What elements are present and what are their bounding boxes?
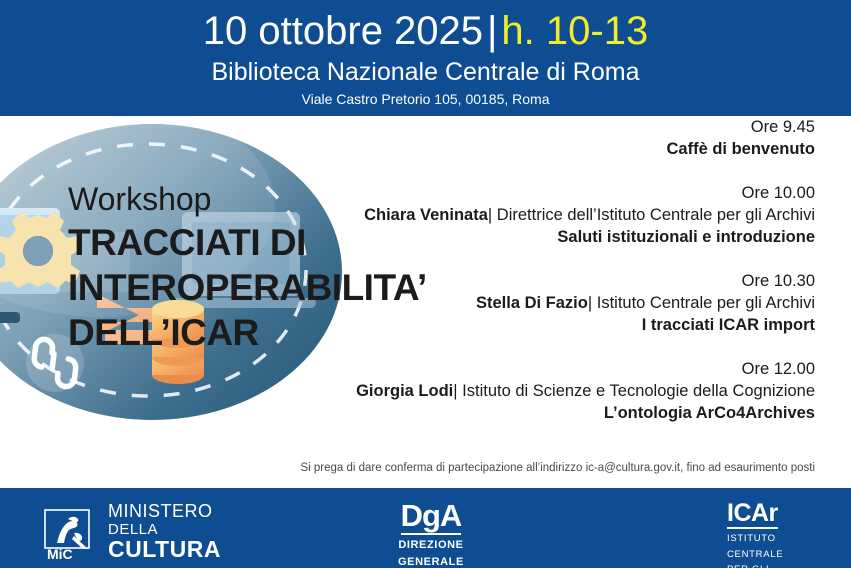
program-speaker-line: Giorgia Lodi| Istituto di Scienze e Tecn…	[355, 380, 815, 402]
mic-line-2: DELLA	[108, 522, 221, 537]
program-item: Ore 9.45 Caffè di benvenuto	[355, 116, 815, 160]
program-topic: I tracciati ICAR import	[355, 314, 815, 336]
logo-icar: ICAr ISTITUTO CENTRALE PER GLI ARCHIVI	[727, 500, 783, 568]
program-time: Ore 12.00	[355, 358, 815, 380]
program-item: Ore 10.30 Stella Di Fazio| Istituto Cent…	[355, 270, 815, 336]
mic-emblem-icon: MiC	[44, 509, 100, 561]
header-separator: |	[483, 9, 501, 53]
header-date-hours: 10 ottobre 2025|h. 10-13	[0, 6, 851, 56]
header-address: Viale Castro Pretorio 105, 00185, Roma	[0, 90, 851, 108]
program-speaker: Chiara Veninata	[364, 206, 488, 224]
rsvp-note: Si prega di dare conferma di partecipazi…	[175, 460, 815, 476]
icar-mark: ICAr	[727, 500, 778, 529]
program-item: Ore 12.00 Giorgia Lodi| Istituto di Scie…	[355, 358, 815, 424]
program-speaker-line: Stella Di Fazio| Istituto Centrale per g…	[355, 292, 815, 314]
icar-line-2: CENTRALE	[727, 549, 783, 561]
poster-root: 10 ottobre 2025|h. 10-13 Biblioteca Nazi…	[0, 0, 851, 568]
mic-wordmark: MINISTERO DELLA CULTURA	[108, 502, 221, 561]
program-affiliation: Direttrice dell’Istituto Centrale per gl…	[497, 206, 815, 224]
program-topic: L’ontologia ArCo4Archives	[355, 402, 815, 424]
main-content: Workshop TRACCIATI DI INTEROPERABILITA’ …	[0, 116, 851, 488]
program-item: Ore 10.00 Chiara Veninata| Direttrice de…	[355, 182, 815, 248]
header-venue: Biblioteca Nazionale Centrale di Roma	[0, 57, 851, 87]
icar-line-3: PER GLI	[727, 564, 783, 568]
mic-line-3: CULTURA	[108, 538, 221, 561]
program-speaker-line: Chiara Veninata| Direttrice dell’Istitut…	[355, 204, 815, 226]
program-time: Ore 10.30	[355, 270, 815, 292]
program-affiliation: Istituto Centrale per gli Archivi	[597, 294, 815, 312]
header-banner: 10 ottobre 2025|h. 10-13 Biblioteca Nazi…	[0, 0, 851, 116]
program-pipe: |	[488, 206, 492, 224]
program-list: Ore 9.45 Caffè di benvenuto Ore 10.00 Ch…	[355, 116, 815, 446]
icar-line-1: ISTITUTO	[727, 533, 783, 545]
program-time: Ore 9.45	[355, 116, 815, 138]
program-pipe: |	[588, 294, 592, 312]
dga-line-2: GENERALE	[398, 556, 464, 568]
logo-direzione-generale-archivi: DgA DIREZIONE GENERALE ARCHIVI	[398, 500, 464, 568]
program-affiliation: Istituto di Scienze e Tecnologie della C…	[462, 382, 815, 400]
program-speaker: Giorgia Lodi	[356, 382, 453, 400]
program-topic: Caffè di benvenuto	[355, 138, 815, 160]
dga-line-1: DIREZIONE	[398, 539, 464, 552]
program-speaker: Stella Di Fazio	[476, 294, 588, 312]
program-topic: Saluti istituzionali e introduzione	[355, 226, 815, 248]
mic-line-1: MINISTERO	[108, 502, 221, 520]
program-time: Ore 10.00	[355, 182, 815, 204]
dga-mark: DgA	[401, 500, 462, 535]
header-date: 10 ottobre 2025	[203, 9, 483, 53]
svg-text:MiC: MiC	[47, 546, 73, 561]
footer-bar: MiC MINISTERO DELLA CULTURA DgA DIREZION…	[0, 488, 851, 568]
header-hours: h. 10-13	[501, 9, 648, 53]
logo-ministero-della-cultura: MiC MINISTERO DELLA CULTURA	[44, 502, 221, 561]
program-pipe: |	[453, 382, 457, 400]
